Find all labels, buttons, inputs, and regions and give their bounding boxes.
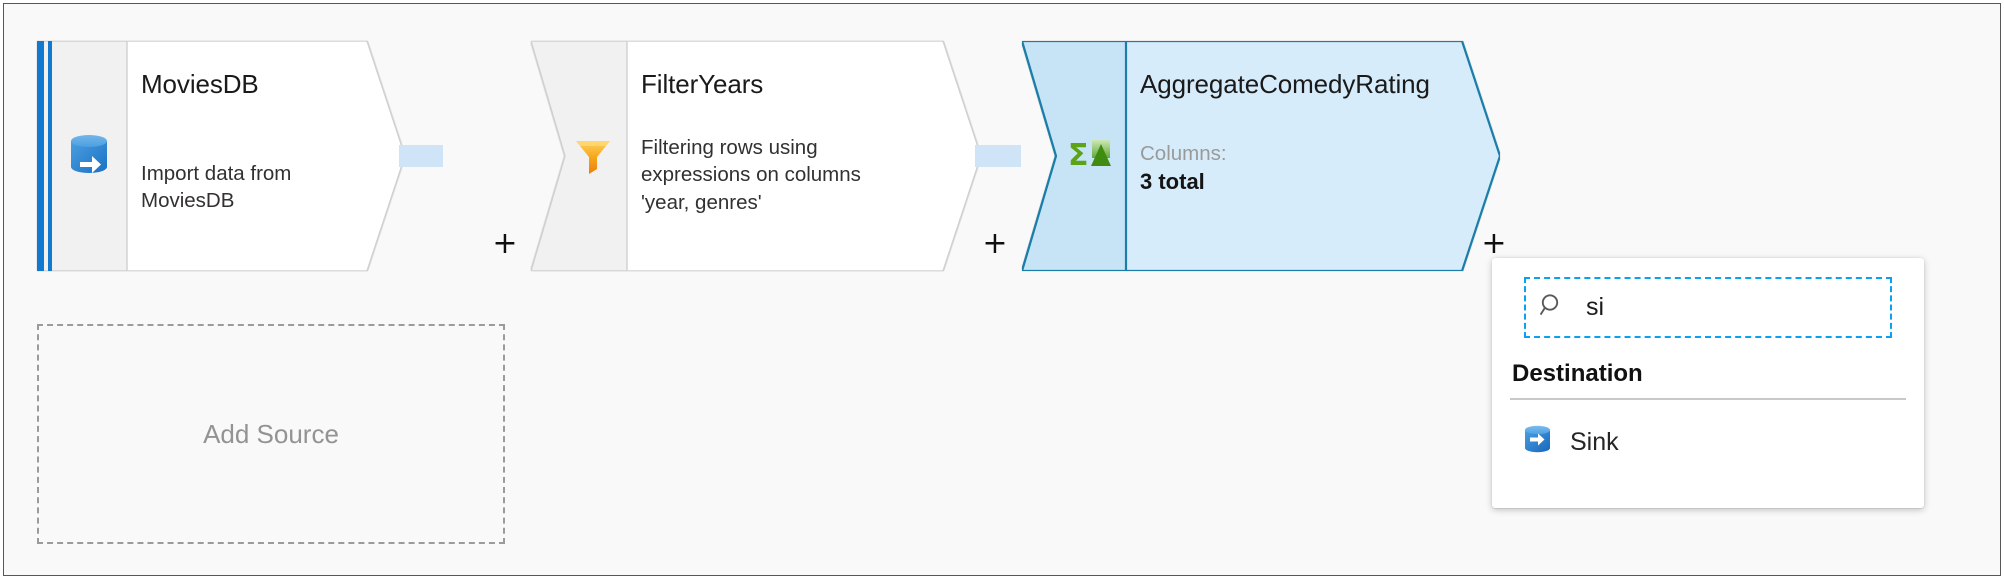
dataflow-node-aggregate[interactable]: Σ AggregateComedyRating Columns: 3 total bbox=[1022, 41, 1500, 271]
node-shape bbox=[37, 41, 405, 271]
panel-item-label: Sink bbox=[1570, 428, 1619, 457]
source-selection-rail-outer bbox=[37, 41, 44, 271]
panel-item-sink[interactable]: Sink bbox=[1510, 416, 1908, 468]
panel-divider bbox=[1510, 398, 1906, 400]
add-after-filter-button[interactable]: + bbox=[982, 232, 1008, 258]
source-selection-rail-inner bbox=[48, 41, 52, 271]
search-input-value: si bbox=[1586, 293, 1604, 322]
search-icon bbox=[1539, 292, 1566, 324]
connector-source-to-filter bbox=[399, 145, 443, 167]
add-after-aggregate-button[interactable]: + bbox=[1481, 232, 1507, 258]
sink-icon bbox=[1522, 424, 1553, 460]
connector-filter-to-aggregate bbox=[975, 145, 1021, 167]
add-transformation-panel[interactable]: si Destination bbox=[1492, 258, 1924, 508]
node-shape bbox=[531, 41, 981, 271]
dataflow-canvas[interactable]: MoviesDB Import data from MoviesDB + bbox=[3, 3, 2001, 576]
search-input[interactable]: si bbox=[1524, 277, 1892, 338]
add-source-placeholder[interactable]: Add Source bbox=[37, 324, 505, 544]
panel-section-header: Destination bbox=[1512, 360, 1643, 388]
add-after-source-button[interactable]: + bbox=[492, 232, 518, 258]
dataflow-node-source[interactable]: MoviesDB Import data from MoviesDB bbox=[37, 41, 405, 271]
node-shape bbox=[1022, 41, 1500, 271]
add-source-label: Add Source bbox=[203, 419, 339, 450]
dataflow-node-filter[interactable]: FilterYears Filtering rows using express… bbox=[531, 41, 981, 271]
